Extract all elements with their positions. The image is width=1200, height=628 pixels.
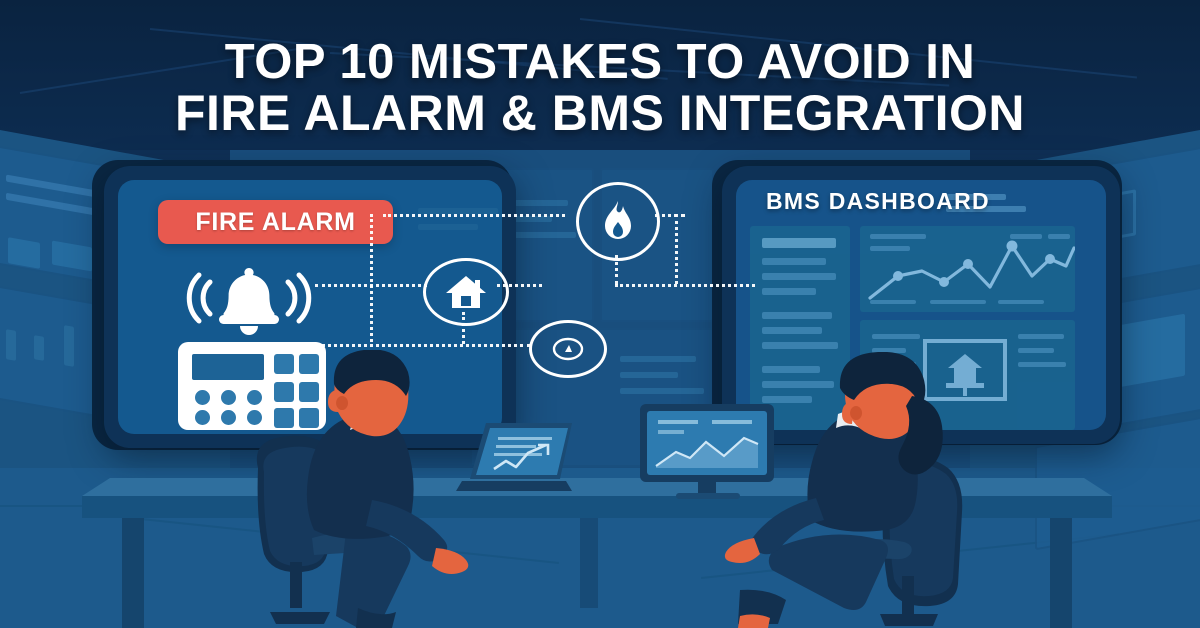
metrics-bar [762,342,838,349]
bg-screen-bar [64,325,74,367]
trend-marker [1045,254,1055,264]
card-bar [1018,362,1066,367]
connector-sensor-row [315,344,530,347]
flame-node[interactable] [576,182,660,261]
house-icon [445,274,487,310]
fire-alarm-badge-label: FIRE ALARM [195,208,355,237]
trend-marker [963,259,973,269]
metrics-bar [762,327,822,334]
metrics-bar [762,258,826,265]
card-bar [1018,348,1054,353]
connector-bms-link [615,284,755,287]
page-title: TOP 10 MISTAKES TO AVOID IN FIRE ALARM &… [0,38,1200,139]
trend-marker [1007,241,1018,252]
metrics-bar [762,238,836,248]
trend-marker [893,271,903,281]
connector-badge-to-flame [383,214,565,217]
metrics-bar [762,273,836,280]
ringing-bell-icon [186,260,312,338]
desk-leg [122,518,144,628]
chart-bg-bar [998,300,1044,304]
keypad-round-button[interactable] [195,410,210,425]
metrics-bar [762,288,816,295]
connector-badge-down [370,214,373,342]
desk-leg [1050,518,1072,628]
fire-alarm-badge[interactable]: FIRE ALARM [158,200,393,244]
laptop[interactable] [452,415,582,505]
trend-marker [939,277,949,287]
poster-canvas: FIRE ALARM [0,0,1200,628]
bg-screen-bar [620,372,678,378]
bg-screen-block [8,237,40,269]
title-line-2: FIRE ALARM & BMS INTEGRATION [0,88,1200,139]
desk-leg [580,518,598,608]
keypad-round-button[interactable] [221,410,236,425]
chart-bg-bar [930,300,986,304]
connector-to-house [315,284,427,287]
chart-bg-bar [870,300,916,304]
bms-dashboard-title: BMS DASHBOARD [766,188,990,215]
title-line-1: TOP 10 MISTAKES TO AVOID IN [225,35,975,89]
card-bar [1018,334,1064,339]
bg-screen-bar [34,335,44,361]
keypad-round-button[interactable] [195,390,210,405]
keypad-round-button[interactable] [221,390,236,405]
connector-flame-right-down [675,214,678,284]
trend-chart-card [860,226,1075,312]
female-operator [680,352,1010,628]
screen-bg-bar [418,224,478,230]
card-bar [872,334,920,339]
metrics-bar [762,312,832,319]
house-node[interactable] [423,258,509,326]
flame-icon [599,200,637,244]
bg-screen-bar [6,329,16,361]
